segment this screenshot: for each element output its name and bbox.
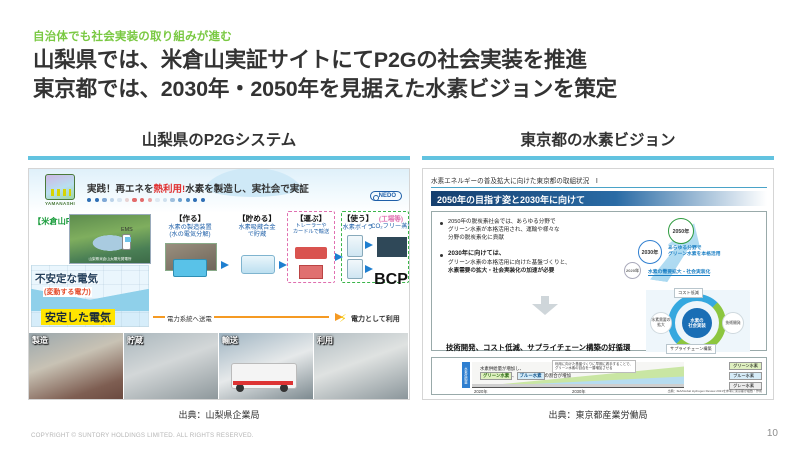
site-photo-caption: 山梨県米倉山太陽光発電所 [70,257,150,262]
timeline-note-2030: 水素の需要拡大・社会実装化 [648,268,710,276]
decorative-dots [87,198,205,202]
vision-subheading: 技術開発、コスト低減、サプライチェーン構築の好循環 [446,342,630,353]
bullet-dot-1 [440,222,443,225]
electrolyzer-icon [173,259,207,277]
right-column-heading: 東京都の水素ビジョン [422,128,774,150]
step-use: 【使う】 水素ボイラ [341,213,375,231]
photo-transport: 輸送 [219,333,314,399]
step-use-sub1: 水素ボイラ [341,224,375,231]
fluctuating-power-label: (変動する電力) [43,287,92,297]
truck-photo-shape [231,363,297,389]
page-title: 山梨県では、米倉山実証サイトにてP2Gの社会実装を推進 東京都では、2030年・… [33,46,617,104]
bullet-2-line-1: 2030年に向けては、 [448,250,628,259]
p2g-diagram: 【米倉山P2G】 山梨県米倉山太陽光発電所 EMS 【作る】 水素の製造装置 (… [29,213,409,335]
photo-strip: 製造 貯蔵 輸送 利用 [29,333,409,399]
page-number: 10 [767,428,778,439]
right-source-caption: 出典：東京都産業労働局 [422,408,774,421]
yamanashi-badge-icon [45,174,75,200]
legend-blue-hydrogen: ブルー水素 [729,372,762,380]
grid-use-label: 電力として利用 [351,314,400,324]
series-gray-hydrogen [472,384,684,387]
truck-stripe [233,381,293,385]
tagline-highlight: 熱利用! [154,184,186,195]
photo-store-label: 貯蔵 [127,335,143,346]
stable-power-label: 安定した電気 [41,309,115,325]
document-header-text: 水素エネルギーの普及拡大に向けた東京都の取組状況 Ⅰ [431,175,767,185]
chart-source-note: 出典：IEA/Global Hydrogen Review 2021を参考に東京… [668,389,762,393]
chart-inline-line-2: グリーン水素、ブルー水素の割合が増加 [480,372,571,380]
bcp-label: BCP [373,271,409,289]
boiler-icon-1 [347,235,363,257]
chart-callout-note: 利用に向けた基盤づくりに早期に着手することで、グリーン水素の割合を一層増加させる [552,360,636,373]
bullet-dot-2 [440,254,443,257]
photo-produce-label: 製造 [32,335,48,346]
unstable-power-label: 不安定な電気 [35,271,98,286]
document-header: 水素エネルギーの普及拡大に向けた東京都の取組状況 Ⅰ [431,175,767,188]
timeline-note-2050: あらゆる分野でグリーン水素を本格活用 [668,246,721,258]
step-store-title: 【貯める】 [229,213,285,224]
site-photo: 山梨県米倉山太陽光発電所 [69,214,151,264]
step-produce-title: 【作る】 [157,213,223,224]
bullet-1-line-1: 2050年の脱炭素社会では、あらゆる分野で [448,218,618,226]
bullet-2-line-3: 水素需要の拡大・社会実装化の加速が必要 [448,267,628,275]
bullet-1-line-3: 分野の脱炭素化に貢献 [448,234,618,242]
bullet-1: 2050年の脱炭素社会では、あらゆる分野で グリーン水素が本格活用され、運輸や様… [448,218,618,242]
step-use-title: 【使う】 [341,213,375,224]
milestone-2030: 2030年 [638,240,662,264]
step-transport: 【運ぶ】 トレーラーや カードルで輸送 [287,213,335,236]
left-column-heading: 山梨県のP2Gシステム [28,128,410,150]
step-transport-sub2: カードルで輸送 [287,230,335,236]
tokyo-hydrogen-vision-figure: 水素エネルギーの普及拡大に向けた東京都の取組状況 Ⅰ 2050年の目指す姿と20… [422,168,774,400]
chart-inline-suffix: の割合が増加 [545,373,571,378]
photo-use: 利用 [314,333,409,399]
step-store-sub2: で貯蔵 [229,231,285,238]
chart-xtick-2030: 2030年 [572,389,586,395]
yamanashi-logo: YAMANASHI [37,174,83,206]
chart-y-axis-label: 水素供給量 [462,362,470,388]
headline-line-1: 山梨県では、米倉山実証サイトにてP2Gの社会実装を推進 [33,46,617,75]
trailer-icon [295,247,327,259]
document-header-rule [431,187,767,188]
lightning-bolt-icon: ⚡ [339,312,347,325]
step-produce: 【作る】 水素の製造装置 (水の電気分解) [157,213,223,238]
chart-xtick-2020: 2020年 [474,389,488,395]
bullet-2-line-2: グリーン水素の本格活用に向けた基盤づくりと、 [448,259,628,267]
photo-use-label: 利用 [317,335,333,346]
virtuous-cycle-diagram: 水素の社会実装 コスト低減 技術開発 サプライチェーン構築 水素需要の拡大 [646,290,750,352]
chart-pill-green: グリーン水素 [480,372,512,380]
left-heading-underline [28,156,410,160]
tagline-pre: 実践！再エネを [87,184,154,195]
banner-tagline: 実践！再エネを熱利用!水素を製造し、実社会で実証 [87,181,309,195]
step-use-badge: (工場等) [371,213,410,223]
headline-line-2: 東京都では、2030年・2050年を見据えた水素ビジョンを策定 [33,75,617,104]
bullet-2: 2030年に向けては、 グリーン水素の本格活用に向けた基盤づくりと、 水素需要の… [448,250,628,275]
cycle-left-label: 水素需要の拡大 [650,312,672,334]
yamanashi-logo-text: YAMANASHI [37,201,83,206]
hydrogen-supply-chart: 水素供給量 水素供給量が増加し、 グリーン水素、ブルー水素の割合が増加 利用に向… [431,357,767,395]
chart-pill-blue: ブルー水素 [517,372,545,380]
photo-produce: 製造 [29,333,124,399]
cycle-top-label: コスト低減 [674,288,703,298]
bullet-1-line-2: グリーン水素が本格活用され、運輸や様々な [448,226,618,234]
milestone-2050: 2050年 [668,218,694,244]
cycle-bottom-label: サプライチェーン構築 [666,344,716,354]
cardle-icon [299,265,323,279]
process-steps: 【作る】 水素の製造装置 (水の電気分解) 【貯める】 水素吸蔵合金 で貯蔵 【… [155,213,409,299]
left-source-caption: 出典：山梨県企業局 [28,408,410,421]
step-use-sub2: CO₂フリー蒸気 [371,223,410,230]
factory-icon [377,237,407,257]
step-store: 【貯める】 水素吸蔵合金 で貯蔵 [229,213,285,238]
down-arrow-icon [532,304,558,315]
photo-transport-label: 輸送 [222,335,238,346]
yamanashi-p2g-figure: YAMANASHI 実践！再エネを熱利用!水素を製造し、実社会で実証 NEDO … [28,168,410,400]
grid-flow-label: 電力系統へ送電 [165,314,214,323]
vision-timeline: 2050年 2030年 2020年 あらゆる分野でグリーン水素を本格活用 水素の… [624,216,766,294]
arrow-store-to-transport [279,261,287,269]
boiler-icon-2 [347,259,363,279]
figure-banner: YAMANASHI 実践！再エネを熱利用!水素を製造し、実社会で実証 NEDO [29,169,409,213]
ems-unit: EMS [121,227,133,250]
step-produce-sub2: (水の電気分解) [157,231,223,238]
ems-label: EMS [121,227,133,233]
electricity-block: 不安定な電気 (変動する電力) 安定した電気 [31,265,149,327]
ems-device-icon [122,234,131,250]
arrow-to-factory [365,241,373,249]
document-section-title: 2050年の目指す姿と2030年に向けて [437,193,585,206]
arrow-to-bcp [365,265,373,273]
tagline-post: 水素を製造し、実社会で実証 [185,184,309,195]
arrow-produce-to-store [221,261,229,269]
step-use-output: (工場等) CO₂フリー蒸気 [371,213,410,230]
hydrogen-tank-icon [241,255,275,274]
legend-green-hydrogen: グリーン水素 [729,362,762,370]
cycle-right-label: 技術開発 [722,312,744,334]
eyebrow-text: 自治体でも社会実装の取り組みが進む [33,28,232,44]
vision-content-box: 2050年の脱炭素社会では、あらゆる分野で グリーン水素が本格活用され、運輸や様… [431,211,767,351]
chart-legend: グリーン水素 ブルー水素 グレー水素 [729,362,762,392]
right-heading-underline [422,156,774,160]
document-section-band: 2050年の目指す姿と2030年に向けて [431,191,767,206]
milestone-2020: 2020年 [624,262,641,279]
copyright-footer: COPYRIGHT © SUNTORY HOLDINGS LIMITED. AL… [31,432,254,439]
nedo-logo: NEDO [370,191,402,201]
cycle-center-label: 水素の社会実装 [682,308,712,338]
photo-store: 貯蔵 [124,333,219,399]
